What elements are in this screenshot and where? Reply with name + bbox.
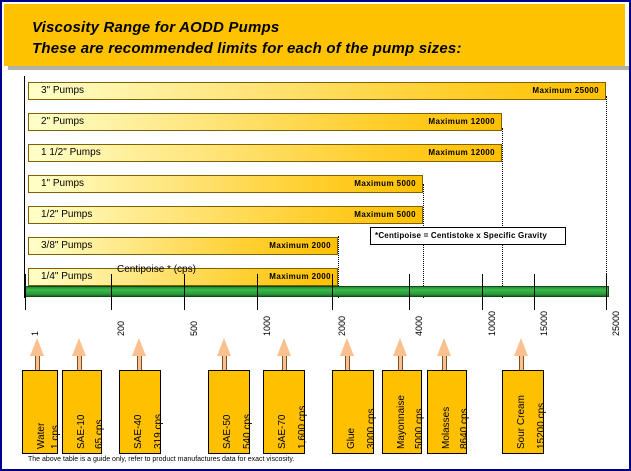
pointer-arrow-stem bbox=[137, 356, 142, 371]
product-box-water[interactable]: Water1 cps bbox=[22, 370, 58, 454]
slide-canvas: Viscosity Range for AODD Pumps These are… bbox=[0, 0, 631, 471]
pointer-arrow-stem bbox=[398, 356, 403, 371]
centipoise-note-text: *Centipoise = Centistoke x Specific Grav… bbox=[375, 231, 547, 240]
tick-label-10000: 10000 bbox=[487, 311, 497, 336]
product-viscosity-value: 1,600 cps bbox=[297, 406, 308, 449]
title-banner: Viscosity Range for AODD Pumps These are… bbox=[4, 4, 625, 66]
product-box-glue[interactable]: Glue3000 cps bbox=[332, 370, 374, 454]
gridline-3 bbox=[606, 96, 607, 298]
product-name: SAE-70 bbox=[277, 415, 288, 449]
product-viscosity-value: 3000 cps bbox=[366, 408, 377, 449]
bar-category-label: 1/2" Pumps bbox=[41, 209, 92, 220]
pointer-arrow-icon bbox=[132, 338, 146, 356]
bar-2[interactable]: 1 1/2" PumpsMaximum 12000 bbox=[28, 144, 502, 162]
tick-label-2000: 2000 bbox=[337, 316, 347, 336]
tick-mark-1 bbox=[25, 274, 26, 310]
bar-value-label: Maximum 2000 bbox=[269, 272, 331, 281]
pointer-arrow-icon bbox=[393, 338, 407, 356]
product-name: SAE-10 bbox=[76, 415, 87, 449]
bar-value-label: Maximum 5000 bbox=[354, 210, 416, 219]
bar-value-label: Maximum 5000 bbox=[354, 179, 416, 188]
gridline-2 bbox=[502, 128, 503, 298]
bar-value-label: Maximum 2000 bbox=[269, 241, 331, 250]
product-box-sae-50[interactable]: SAE-50540 cps bbox=[208, 370, 250, 454]
product-name: SAE-40 bbox=[133, 415, 144, 449]
page-title: Viscosity Range for AODD Pumps bbox=[32, 19, 279, 36]
pointer-arrow-icon bbox=[30, 338, 44, 356]
bar-value-label: Maximum 25000 bbox=[532, 86, 599, 95]
product-viscosity-value: 1 cps bbox=[50, 425, 61, 449]
pointer-arrow-stem bbox=[442, 356, 447, 371]
x-axis-green-bar bbox=[25, 286, 609, 297]
tick-mark-25000 bbox=[606, 274, 607, 310]
pointer-arrow-icon bbox=[72, 338, 86, 356]
product-viscosity-value: 65 cps bbox=[94, 420, 105, 449]
bar-category-label: 3/8" Pumps bbox=[41, 240, 92, 251]
centipoise-note-box: *Centipoise = Centistoke x Specific Grav… bbox=[370, 227, 566, 245]
tick-mark-2000 bbox=[332, 274, 333, 310]
vertical-axis-line bbox=[24, 76, 25, 298]
product-viscosity-value: 319 cps bbox=[153, 414, 164, 449]
bar-category-label: 3" Pumps bbox=[41, 85, 84, 96]
product-viscosity-value: 540 cps bbox=[242, 414, 253, 449]
pointer-arrow-icon bbox=[514, 338, 528, 356]
tick-label-25000: 25000 bbox=[611, 311, 621, 336]
bar-4[interactable]: 1/2" PumpsMaximum 5000 bbox=[28, 206, 423, 224]
product-name: SAE-50 bbox=[222, 415, 233, 449]
product-box-sae-40[interactable]: SAE-40319 cps bbox=[119, 370, 161, 454]
tick-mark-1000 bbox=[257, 274, 258, 310]
tick-label-200: 200 bbox=[116, 321, 126, 336]
bar-category-label: 1 1/2" Pumps bbox=[41, 147, 101, 158]
bar-category-label: 2" Pumps bbox=[41, 116, 84, 127]
chart-plot-area: 3" PumpsMaximum 250002" PumpsMaximum 120… bbox=[24, 76, 609, 298]
pointer-arrow-stem bbox=[35, 356, 40, 371]
product-name: Molasses bbox=[441, 407, 452, 449]
tick-mark-15000 bbox=[534, 274, 535, 310]
bar-category-label: 1/4" Pumps bbox=[41, 271, 92, 282]
product-viscosity-value: 5000 cps bbox=[414, 408, 425, 449]
product-box-sour-cream[interactable]: Sour Cream15200 cps bbox=[502, 370, 544, 454]
product-box-sae-10[interactable]: SAE-1065 cps bbox=[62, 370, 102, 454]
pointer-arrow-stem bbox=[519, 356, 524, 371]
product-name: Water bbox=[36, 423, 47, 449]
pointer-arrow-icon bbox=[340, 338, 354, 356]
bar-0[interactable]: 3" PumpsMaximum 25000 bbox=[28, 82, 606, 100]
bar-5[interactable]: 3/8" PumpsMaximum 2000 bbox=[28, 237, 338, 255]
banner-shadow bbox=[8, 66, 629, 70]
tick-label-1: 1 bbox=[30, 331, 40, 336]
footnote-text: The above table is a guide only, refer t… bbox=[28, 456, 294, 463]
product-name: Sour Cream bbox=[516, 395, 527, 449]
product-viscosity-value: 15200 cps bbox=[536, 403, 547, 449]
tick-mark-4000 bbox=[409, 274, 410, 310]
tick-mark-200 bbox=[111, 274, 112, 310]
pointer-arrow-stem bbox=[222, 356, 227, 371]
pointer-arrow-icon bbox=[437, 338, 451, 356]
tick-mark-500 bbox=[184, 274, 185, 310]
pointer-arrow-stem bbox=[282, 356, 287, 371]
tick-label-4000: 4000 bbox=[414, 316, 424, 336]
bar-value-label: Maximum 12000 bbox=[428, 117, 495, 126]
product-viscosity-value: 8640 cps bbox=[459, 408, 470, 449]
product-box-mayonnaise[interactable]: Mayonnaise5000 cps bbox=[382, 370, 422, 454]
bar-category-label: 1" Pumps bbox=[41, 178, 84, 189]
product-name: Mayonnaise bbox=[396, 395, 407, 449]
product-name: Glue bbox=[346, 428, 357, 449]
bar-3[interactable]: 1" PumpsMaximum 5000 bbox=[28, 175, 423, 193]
pointer-arrow-icon bbox=[277, 338, 291, 356]
bar-value-label: Maximum 12000 bbox=[428, 148, 495, 157]
product-box-molasses[interactable]: Molasses8640 cps bbox=[427, 370, 467, 454]
product-box-sae-70[interactable]: SAE-701,600 cps bbox=[263, 370, 305, 454]
pointer-arrow-stem bbox=[77, 356, 82, 371]
bar-1[interactable]: 2" PumpsMaximum 12000 bbox=[28, 113, 502, 131]
pointer-arrow-icon bbox=[217, 338, 231, 356]
tick-mark-10000 bbox=[482, 274, 483, 310]
tick-label-15000: 15000 bbox=[539, 311, 549, 336]
pointer-arrow-stem bbox=[345, 356, 350, 371]
tick-label-1000: 1000 bbox=[262, 316, 272, 336]
tick-label-500: 500 bbox=[189, 321, 199, 336]
page-subtitle: These are recommended limits for each of… bbox=[32, 40, 462, 57]
